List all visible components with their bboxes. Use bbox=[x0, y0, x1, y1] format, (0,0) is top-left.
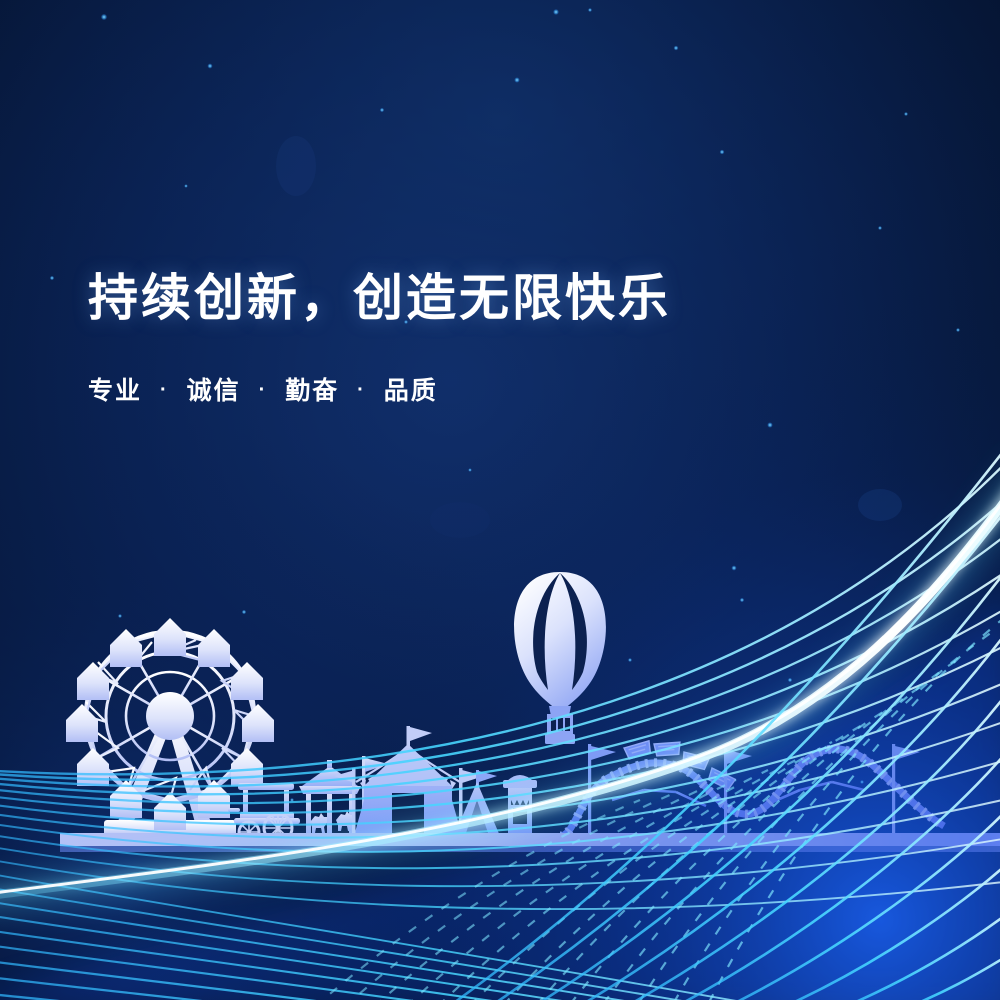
subtitle-item-2: 勤奋 bbox=[285, 377, 339, 405]
poster-canvas: 持续创新，创造无限快乐 专业 · 诚信 · 勤奋 · 品质 bbox=[0, 0, 1000, 1000]
text-layer: 持续创新，创造无限快乐 专业 · 诚信 · 勤奋 · 品质 bbox=[0, 0, 1000, 1000]
subtitle-item-3: 品质 bbox=[384, 377, 438, 405]
subtitle-separator-2: · bbox=[348, 379, 375, 401]
subtitle-item-1: 诚信 bbox=[187, 377, 241, 405]
page-subtitle: 专业 · 诚信 · 勤奋 · 品质 bbox=[88, 375, 438, 408]
page-headline: 持续创新，创造无限快乐 bbox=[88, 268, 671, 328]
subtitle-item-0: 专业 bbox=[88, 377, 142, 405]
subtitle-separator-1: · bbox=[250, 379, 277, 401]
subtitle-separator-0: · bbox=[151, 379, 178, 401]
